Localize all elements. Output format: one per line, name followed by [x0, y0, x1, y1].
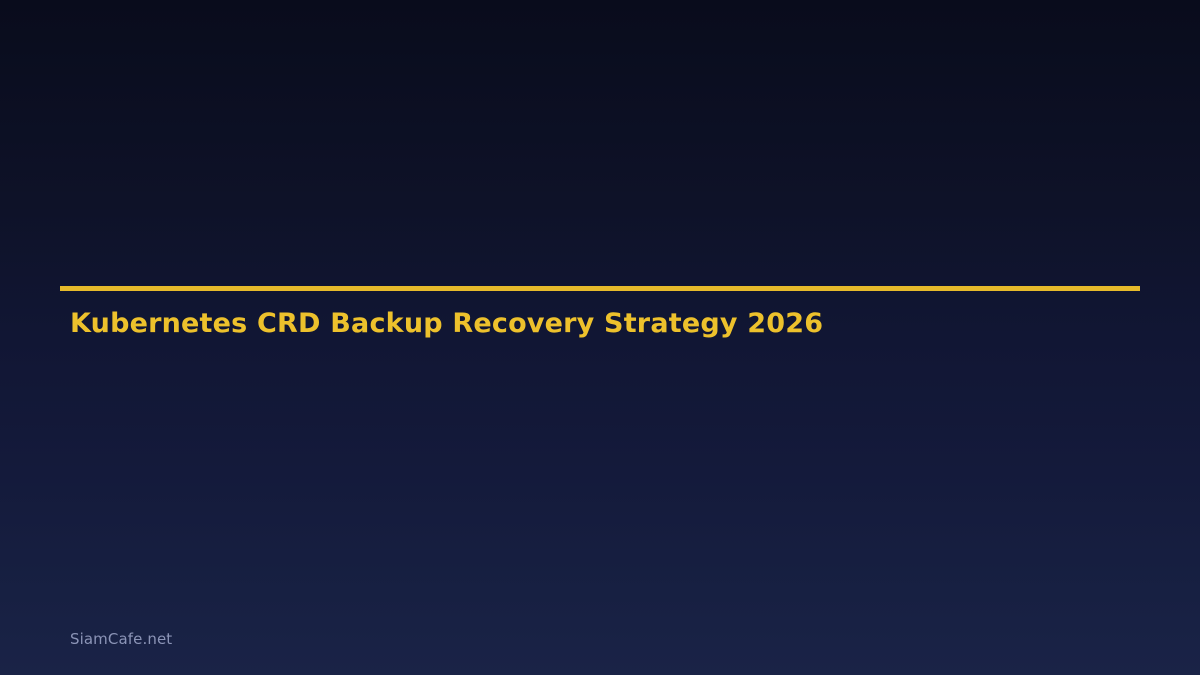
slide-footer: SiamCafe.net [70, 630, 172, 648]
footer-brand-label: SiamCafe.net [70, 630, 172, 648]
presentation-slide: Kubernetes CRD Backup Recovery Strategy … [0, 0, 1200, 675]
page-title: Kubernetes CRD Backup Recovery Strategy … [60, 291, 1140, 340]
title-block: Kubernetes CRD Backup Recovery Strategy … [60, 286, 1140, 340]
